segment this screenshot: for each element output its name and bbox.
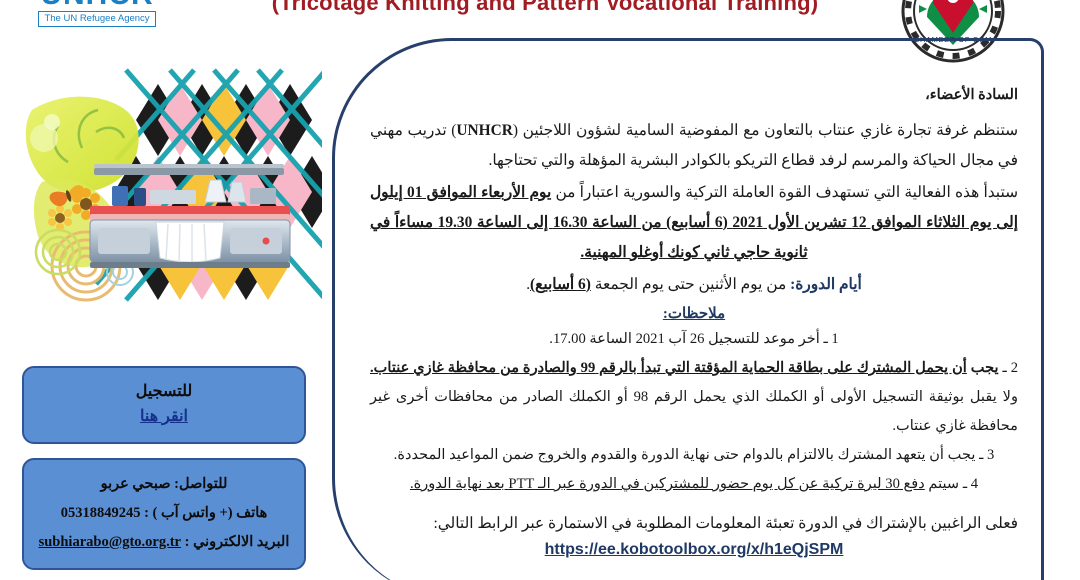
contact-name: للتواصل: صبحي عربو <box>24 470 304 499</box>
knitting-machine-illustration <box>24 66 322 316</box>
unhcr-wordmark: UNHCR <box>38 0 156 10</box>
page-title: (Tricotage Knitting and Pattern Vocation… <box>195 0 895 16</box>
note-plain: أخر موعد للتسجيل 26 آب 2021 الساعة 17.00… <box>549 331 820 347</box>
schedule-plain: ستبدأ هذه الفعالية التي تستهدف القوة الع… <box>551 184 1018 201</box>
flyer-page: UNHCR The UN Refugee Agency (Tricotage K… <box>0 0 1080 580</box>
intro-part1: ستنظم غرفة تجارة غازي عنتاب بالتعاون مع … <box>513 122 1018 139</box>
note-index: 2 ـ <box>999 360 1018 376</box>
contact-phone-label: هاتف (+ واتس آب ) : <box>140 505 267 521</box>
course-days-text: من يوم الأثنين حتى يوم الجمعة <box>591 276 790 293</box>
contact-phone: هاتف (+ واتس آب ) : 05318849245 <box>24 499 304 528</box>
note-item: 1 ـ أخر موعد للتسجيل 26 آب 2021 الساعة 1… <box>370 325 1018 354</box>
note-underlined: دفع 30 ليرة تركية عن كل يوم حضور للمشترك… <box>410 476 925 492</box>
contact-box: للتواصل: صبحي عربو هاتف (+ واتس آب ) : 0… <box>22 458 306 570</box>
registration-url-row: https://ee.kobotoolbox.org/x/h1eQjSPM <box>370 541 1018 559</box>
unhcr-logo: UNHCR The UN Refugee Agency <box>38 0 156 27</box>
note-item: 3 ـ يجب أن يتعهد المشترك بالالتزام بالدو… <box>370 441 1018 470</box>
unhcr-tagline: The UN Refugee Agency <box>38 11 156 27</box>
unhcr-inline: UNHCR <box>456 122 512 139</box>
registration-box[interactable]: للتسجيل انقر هنا <box>22 366 306 444</box>
note-index: 3 ـ <box>975 447 994 463</box>
note-lead: سيتم <box>925 476 959 492</box>
course-days-label: أيام الدورة: <box>790 276 862 293</box>
contact-email: البريد الالكتروني : subhiarabo@gto.org.t… <box>24 528 304 557</box>
registration-url-link[interactable]: https://ee.kobotoolbox.org/x/h1eQjSPM <box>545 541 844 559</box>
register-here-link[interactable]: انقر هنا <box>24 404 304 430</box>
closing-paragraph: فعلى الراغبين بالإشتراك في الدورة تعبئة … <box>370 509 1018 539</box>
contact-email-link[interactable]: subhiarabo@gto.org.tr <box>39 528 181 557</box>
note-item: 4 ـ سيتم دفع 30 ليرة تركية عن كل يوم حضو… <box>370 470 1018 499</box>
notes-heading: ملاحظات: <box>370 304 1018 323</box>
note-lead: يجب <box>967 360 999 376</box>
note-item: 2 ـ يجب أن يحمل المشترك على بطاقة الحماي… <box>370 354 1018 441</box>
note-index: 1 ـ <box>820 331 839 347</box>
registration-label: للتسجيل <box>24 380 304 404</box>
schedule-paragraph: ستبدأ هذه الفعالية التي تستهدف القوة الع… <box>370 178 1018 268</box>
note-underlined: أن يحمل المشترك على بطاقة الحماية المؤقت… <box>370 360 967 376</box>
intro-paragraph: ستنظم غرفة تجارة غازي عنتاب بالتعاون مع … <box>370 116 1018 176</box>
note-plain: يجب أن يتعهد المشترك بالالتزام بالدوام ح… <box>394 447 976 463</box>
salutation: السادة الأعضاء، <box>370 80 1018 110</box>
note-plain: ولا يقبل بوثيقة التسجيل الأولى أو الكملك… <box>370 389 1018 434</box>
course-days-line: أيام الدورة: من يوم الأثنين حتى يوم الجم… <box>370 270 1018 300</box>
contact-phone-value: 05318849245 <box>61 499 141 528</box>
note-index: 4 ـ <box>959 476 978 492</box>
announcement-body: السادة الأعضاء، ستنظم غرفة تجارة غازي عن… <box>340 52 1040 580</box>
course-days-emphasis: (6 أسابيع) <box>530 276 591 293</box>
contact-email-label: البريد الالكتروني : <box>181 534 289 550</box>
